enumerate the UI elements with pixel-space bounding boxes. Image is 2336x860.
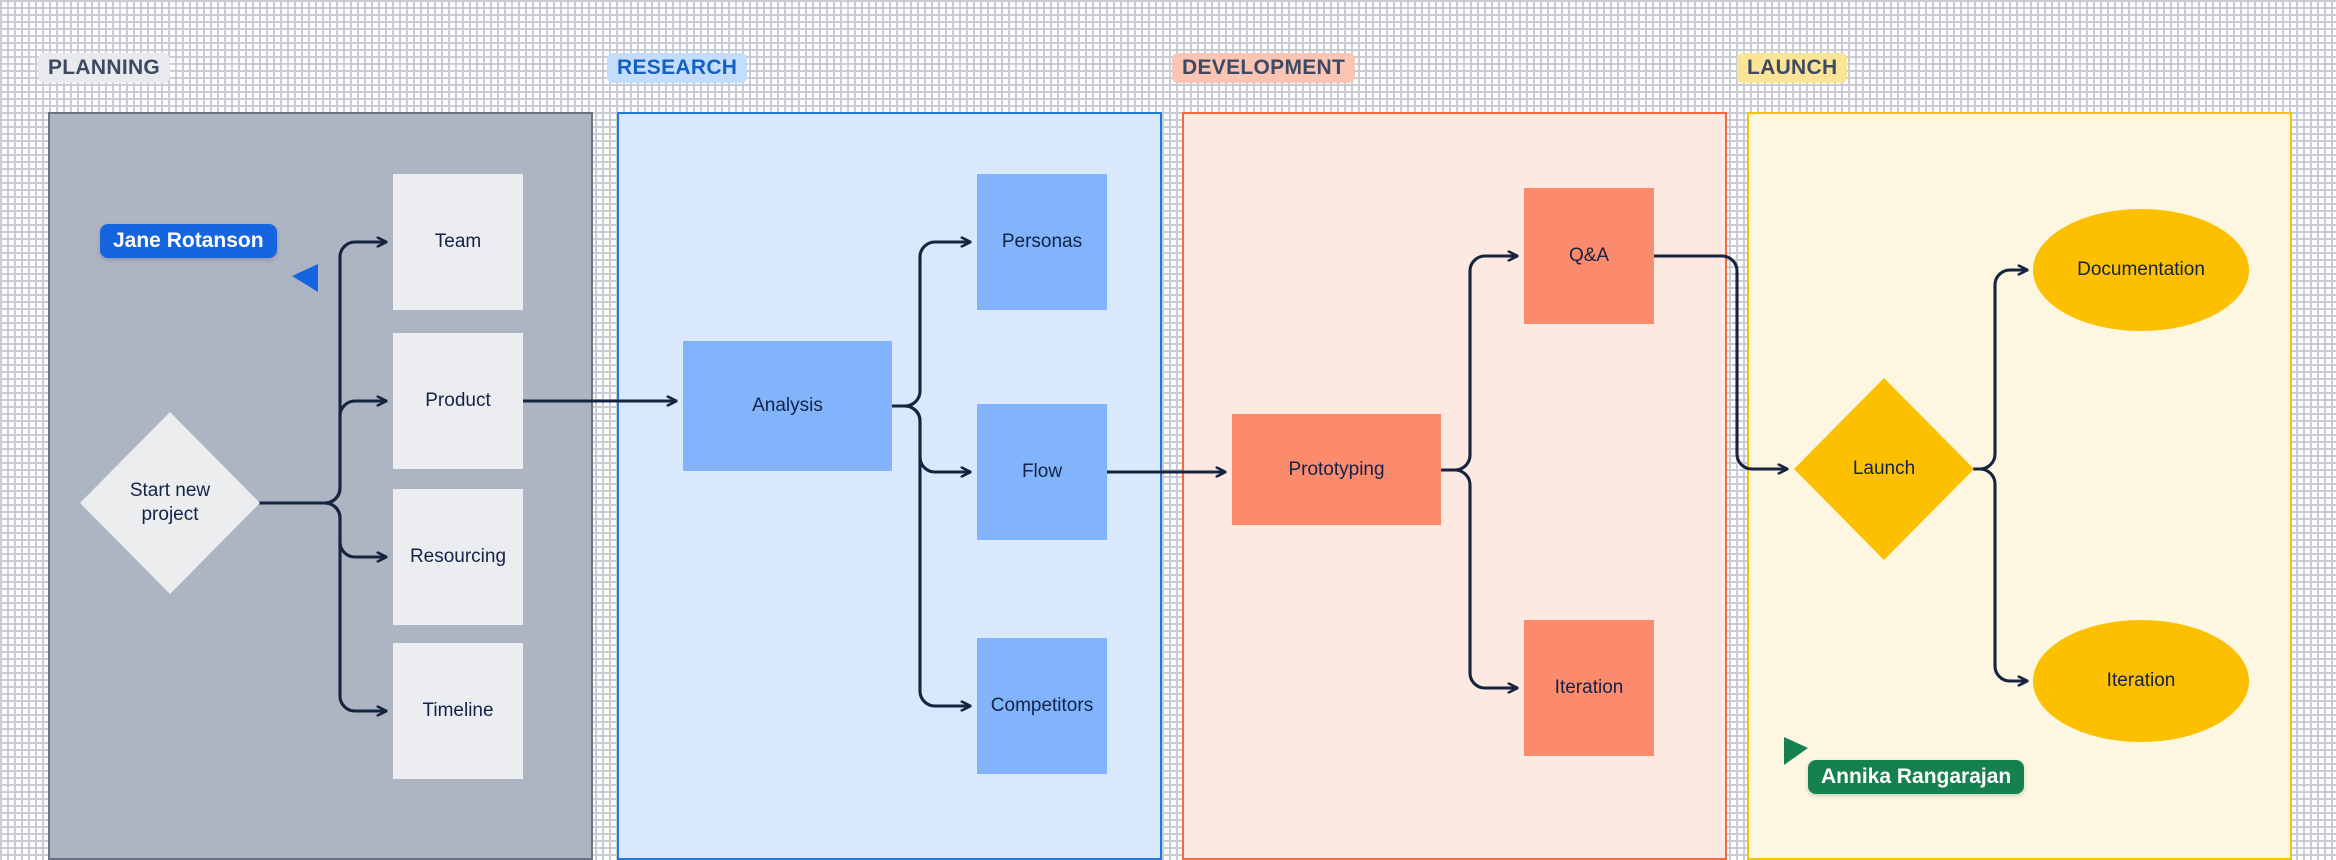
node-personas[interactable]: Personas xyxy=(977,174,1107,310)
node-label: Iteration xyxy=(2107,669,2176,693)
node-product[interactable]: Product xyxy=(393,333,523,469)
node-label: Analysis xyxy=(752,394,823,418)
node-competitors[interactable]: Competitors xyxy=(977,638,1107,774)
whiteboard-canvas[interactable]: PLANNINGRESEARCHDEVELOPMENTLAUNCH xyxy=(0,0,2336,860)
node-label: Personas xyxy=(1002,230,1082,254)
grid-line-horizontal xyxy=(0,68,2336,69)
swimlane-label-research[interactable]: RESEARCH xyxy=(607,53,747,83)
node-label: Resourcing xyxy=(410,545,506,569)
node-iteration-dev[interactable]: Iteration xyxy=(1524,620,1654,756)
node-label: Team xyxy=(435,230,481,254)
node-label: Competitors xyxy=(991,694,1093,718)
node-label: Prototyping xyxy=(1288,458,1384,482)
node-timeline[interactable]: Timeline xyxy=(393,643,523,779)
node-label: Documentation xyxy=(2077,258,2205,282)
node-team[interactable]: Team xyxy=(393,174,523,310)
cursor-label-annika: Annika Rangarajan xyxy=(1808,760,2024,794)
node-prototyping[interactable]: Prototyping xyxy=(1232,414,1441,525)
node-resourcing[interactable]: Resourcing xyxy=(393,489,523,625)
node-start[interactable]: Start new project xyxy=(80,412,260,594)
swimlane-label-launch[interactable]: LAUNCH xyxy=(1737,53,1847,83)
node-iteration-launch[interactable]: Iteration xyxy=(2033,620,2249,742)
swimlane-label-development[interactable]: DEVELOPMENT xyxy=(1172,53,1355,83)
node-documentation[interactable]: Documentation xyxy=(2033,209,2249,331)
node-flow[interactable]: Flow xyxy=(977,404,1107,540)
swimlane-label-planning[interactable]: PLANNING xyxy=(38,53,170,83)
node-label: Product xyxy=(425,389,490,413)
node-qa[interactable]: Q&A xyxy=(1524,188,1654,324)
node-label: Timeline xyxy=(422,699,493,723)
node-label: Launch xyxy=(1794,457,1974,481)
cursor-pointer-jane xyxy=(290,262,324,296)
node-label: Q&A xyxy=(1569,244,1609,268)
node-label: Iteration xyxy=(1555,676,1624,700)
node-launch-node[interactable]: Launch xyxy=(1794,378,1974,560)
cursor-pointer-annika xyxy=(1781,735,1815,769)
node-label: Flow xyxy=(1022,460,1062,484)
node-analysis[interactable]: Analysis xyxy=(683,341,892,471)
cursor-label-jane: Jane Rotanson xyxy=(100,224,277,258)
node-label: Start new project xyxy=(80,479,260,527)
